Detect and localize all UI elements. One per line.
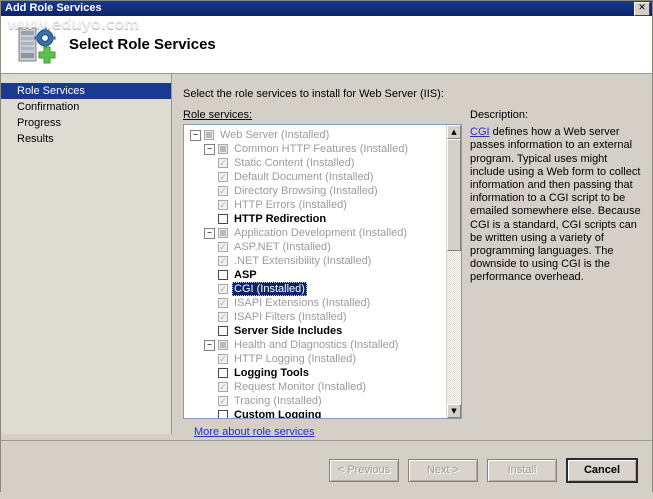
tree-row-label: Logging Tools [232, 366, 311, 380]
tree-row[interactable]: −Application Development (Installed) [184, 226, 446, 240]
content-columns: Role services: −Web Server (Installed)−C… [183, 109, 641, 419]
add-role-services-dialog: Add Role Services ✕ www.eduyo.com [0, 0, 653, 492]
tree-row[interactable]: −Web Server (Installed) [184, 128, 446, 142]
scroll-down-icon[interactable]: ▼ [447, 404, 461, 418]
sidebar-item-results[interactable]: Results [1, 131, 171, 147]
scroll-up-icon[interactable]: ▲ [447, 125, 461, 139]
server-add-icon [15, 22, 61, 68]
wizard-steps-sidebar: Role Services Confirmation Progress Resu… [1, 74, 172, 434]
tree-rows: −Web Server (Installed)−Common HTTP Feat… [184, 125, 446, 418]
dialog-footer: < Previous Next > Install Cancel [1, 440, 652, 499]
tree-row-label: Directory Browsing (Installed) [232, 184, 380, 198]
tree-scrollbar[interactable]: ▲ ▼ [446, 125, 461, 418]
tree-row-label: HTTP Redirection [232, 212, 328, 226]
tree-row[interactable]: −Health and Diagnostics (Installed) [184, 338, 446, 352]
checkbox-checked-disabled-icon[interactable]: ✓ [218, 396, 228, 406]
role-services-column: Role services: −Web Server (Installed)−C… [183, 109, 462, 419]
close-icon[interactable]: ✕ [634, 2, 650, 16]
previous-button[interactable]: < Previous [329, 459, 399, 482]
collapse-icon[interactable]: − [204, 340, 215, 351]
checkbox-partial-icon[interactable] [218, 144, 228, 154]
collapse-icon[interactable]: − [190, 130, 201, 141]
checkbox-checked-disabled-icon[interactable]: ✓ [218, 284, 228, 294]
checkbox-unchecked-icon[interactable] [218, 410, 228, 418]
tree-row[interactable]: HTTP Redirection [184, 212, 446, 226]
sidebar-item-role-services[interactable]: Role Services [1, 83, 171, 99]
tree-row[interactable]: Custom Logging [184, 408, 446, 418]
role-services-label: Role services: [183, 109, 462, 121]
role-services-tree[interactable]: −Web Server (Installed)−Common HTTP Feat… [183, 124, 462, 419]
checkbox-partial-icon[interactable] [218, 228, 228, 238]
description-column: Description: CGI defines how a Web serve… [470, 109, 641, 419]
checkbox-partial-icon[interactable] [204, 130, 214, 140]
checkbox-fill [220, 230, 226, 236]
checkbox-fill [220, 146, 226, 152]
checkbox-checked-disabled-icon[interactable]: ✓ [218, 172, 228, 182]
checkbox-checked-disabled-icon[interactable]: ✓ [218, 200, 228, 210]
tree-row[interactable]: ✓HTTP Errors (Installed) [184, 198, 446, 212]
tree-row-label: ASP [232, 268, 259, 282]
checkbox-unchecked-icon[interactable] [218, 368, 228, 378]
dialog-header: Select Role Services [1, 16, 652, 74]
checkbox-unchecked-icon[interactable] [218, 270, 228, 280]
checkbox-checked-disabled-icon[interactable]: ✓ [218, 242, 228, 252]
checkbox-checked-disabled-icon[interactable]: ✓ [218, 298, 228, 308]
sidebar-item-progress[interactable]: Progress [1, 115, 171, 131]
collapse-icon[interactable]: − [204, 144, 215, 155]
window-title: Add Role Services [5, 1, 102, 16]
description-text: defines how a Web server passes informat… [470, 126, 641, 283]
checkbox-fill [220, 342, 226, 348]
tree-row[interactable]: Server Side Includes [184, 324, 446, 338]
tree-row-label: HTTP Logging (Installed) [232, 352, 358, 366]
checkbox-fill [206, 132, 212, 138]
tree-row-label: ISAPI Filters (Installed) [232, 310, 348, 324]
title-bar: Add Role Services ✕ [1, 1, 652, 16]
tree-row-label: .NET Extensibility (Installed) [232, 254, 373, 268]
tree-row-label: Default Document (Installed) [232, 170, 375, 184]
checkbox-unchecked-icon[interactable] [218, 326, 228, 336]
dialog-body: Role Services Confirmation Progress Resu… [1, 74, 652, 434]
next-button[interactable]: Next > [408, 459, 478, 482]
page-title: Select Role Services [69, 36, 216, 53]
install-button[interactable]: Install [487, 459, 557, 482]
more-about-role-services-link[interactable]: More about role services [194, 426, 314, 438]
tree-row[interactable]: ✓HTTP Logging (Installed) [184, 352, 446, 366]
tree-row[interactable]: ✓CGI (Installed) [184, 282, 446, 296]
cancel-button[interactable]: Cancel [566, 458, 638, 483]
instruction-text: Select the role services to install for … [183, 88, 641, 100]
cgi-link[interactable]: CGI [470, 126, 490, 138]
tree-row-label: ASP.NET (Installed) [232, 240, 333, 254]
tree-row[interactable]: −Common HTTP Features (Installed) [184, 142, 446, 156]
tree-row[interactable]: Logging Tools [184, 366, 446, 380]
tree-row-label: Health and Diagnostics (Installed) [232, 338, 400, 352]
tree-row-label: Application Development (Installed) [232, 226, 409, 240]
checkbox-partial-icon[interactable] [218, 340, 228, 350]
tree-row[interactable]: ✓Tracing (Installed) [184, 394, 446, 408]
checkbox-checked-disabled-icon[interactable]: ✓ [218, 158, 228, 168]
tree-row[interactable]: ASP [184, 268, 446, 282]
tree-row[interactable]: ✓ASP.NET (Installed) [184, 240, 446, 254]
role-services-label-text: Role services: [183, 109, 252, 121]
tree-row[interactable]: ✓ISAPI Extensions (Installed) [184, 296, 446, 310]
checkbox-unchecked-icon[interactable] [218, 214, 228, 224]
tree-row[interactable]: ✓Request Monitor (Installed) [184, 380, 446, 394]
tree-row[interactable]: ✓.NET Extensibility (Installed) [184, 254, 446, 268]
description-panel: Description: CGI defines how a Web serve… [470, 109, 641, 285]
tree-row-label: HTTP Errors (Installed) [232, 198, 349, 212]
tree-row-label: Request Monitor (Installed) [232, 380, 368, 394]
tree-row-label: Common HTTP Features (Installed) [232, 142, 410, 156]
tree-row-label: Web Server (Installed) [218, 128, 331, 142]
description-body: CGI defines how a Web server passes info… [470, 126, 641, 284]
tree-row-label: Tracing (Installed) [232, 394, 324, 408]
checkbox-checked-disabled-icon[interactable]: ✓ [218, 312, 228, 322]
tree-row[interactable]: ✓Static Content (Installed) [184, 156, 446, 170]
tree-row[interactable]: ✓ISAPI Filters (Installed) [184, 310, 446, 324]
scrollbar-track[interactable] [447, 139, 461, 404]
checkbox-checked-disabled-icon[interactable]: ✓ [218, 382, 228, 392]
checkbox-checked-disabled-icon[interactable]: ✓ [218, 354, 228, 364]
checkbox-checked-disabled-icon[interactable]: ✓ [218, 186, 228, 196]
tree-row-label: Custom Logging [232, 408, 323, 418]
content-pane: Select the role services to install for … [172, 74, 652, 434]
tree-row-label: ISAPI Extensions (Installed) [232, 296, 372, 310]
description-heading: Description: [470, 109, 641, 122]
tree-row-label: Server Side Includes [232, 324, 344, 338]
collapse-icon[interactable]: − [204, 228, 215, 239]
tree-row[interactable]: ✓Directory Browsing (Installed) [184, 184, 446, 198]
more-about-role-services: More about role services [183, 419, 641, 438]
tree-row[interactable]: ✓Default Document (Installed) [184, 170, 446, 184]
tree-row-label: Static Content (Installed) [232, 156, 356, 170]
scrollbar-thumb[interactable] [447, 139, 461, 251]
tree-row-label: CGI (Installed) [232, 282, 307, 296]
checkbox-checked-disabled-icon[interactable]: ✓ [218, 256, 228, 266]
sidebar-item-confirmation[interactable]: Confirmation [1, 99, 171, 115]
